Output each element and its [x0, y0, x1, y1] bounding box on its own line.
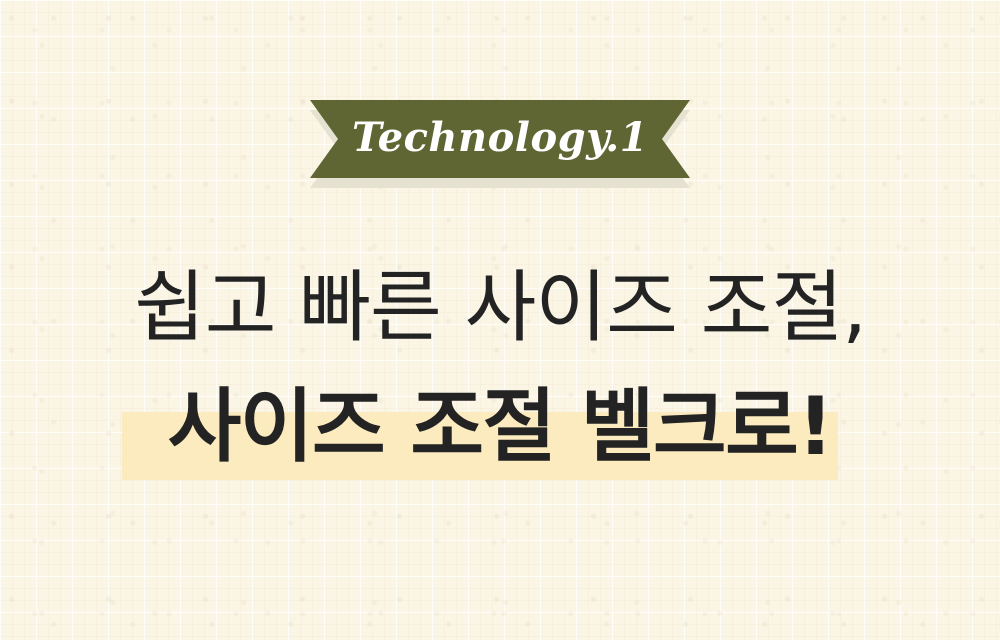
ribbon-label: Technology.1	[352, 118, 648, 158]
technology-ribbon-banner: Technology.1	[310, 100, 690, 178]
promo-poster: Technology.1 쉽고 빠른 사이즈 조절, 사이즈 조절 벨크로!	[0, 0, 1000, 640]
headline-line-2-row: 사이즈 조절 벨크로!	[0, 384, 1000, 470]
ribbon-body: Technology.1	[310, 100, 690, 178]
headline-line-1-row: 쉽고 빠른 사이즈 조절,	[0, 252, 1000, 364]
headline-line-2: 사이즈 조절 벨크로!	[168, 380, 833, 473]
headline-line-1: 쉽고 빠른 사이즈 조절,	[134, 263, 866, 353]
headline-block: 쉽고 빠른 사이즈 조절, 사이즈 조절 벨크로!	[0, 252, 1000, 470]
